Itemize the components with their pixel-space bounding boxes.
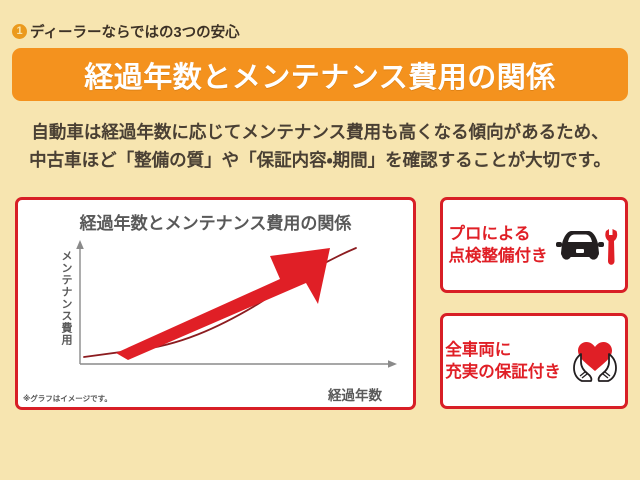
warranty-line-1: 全車両に (445, 339, 561, 361)
heart-in-hands-icon (567, 338, 623, 384)
warranty-line-2: 充実の保証付き (445, 361, 561, 383)
warranty-icons (567, 338, 623, 384)
feature-card-inspection[interactable]: プロによる 点検整備付き (440, 197, 628, 293)
chart-footnote: ※グラフはイメージです。 (23, 393, 112, 404)
trend-arrow-icon (116, 248, 330, 360)
lead-line-1: 自動車は経過年数に応じてメンテナンス費用も高くなる傾向があるため、 (0, 118, 640, 146)
chart-title: 経過年数とメンテナンス費用の関係 (18, 209, 413, 234)
wrench-icon (605, 229, 617, 265)
inspection-line-1: プロによる (449, 223, 548, 245)
car-and-wrench-icon (554, 223, 620, 267)
inspection-icons (554, 223, 620, 267)
banner-title: 経過年数とメンテナンス費用の関係 (84, 54, 555, 96)
car-icon (556, 231, 604, 260)
heart-icon (578, 342, 612, 371)
feature-card-warranty[interactable]: 全車両に 充実の保証付き (440, 313, 628, 409)
inspection-card-text: プロによる 点検整備付き (449, 223, 548, 267)
eyebrow-row: 1 ディーラーならではの3つの安心 (12, 20, 240, 42)
lead-paragraph: 自動車は経過年数に応じてメンテナンス費用も高くなる傾向があるため、 中古車ほど「… (0, 118, 640, 174)
chart-panel: 経過年数とメンテナンス費用の関係 メンテナンス費用 経過年数 ※グラフはイメージ… (15, 197, 416, 410)
section-banner: 経過年数とメンテナンス費用の関係 (12, 48, 628, 101)
y-axis (76, 240, 84, 364)
eyebrow-label: ディーラーならではの3つの安心 (30, 21, 240, 42)
chart-x-axis-label: 経過年数 (328, 384, 382, 404)
lead-line-2: 中古車ほど「整備の質」や「保証内容・期間」を確認することが大切です。 (0, 146, 640, 174)
infographic-page: 1 ディーラーならではの3つの安心 経過年数とメンテナンス費用の関係 自動車は経… (0, 0, 640, 480)
step-number-badge: 1 (12, 24, 27, 39)
chart-plot (18, 236, 413, 376)
warranty-card-text: 全車両に 充実の保証付き (445, 339, 561, 383)
inspection-line-2: 点検整備付き (449, 245, 548, 267)
x-axis (80, 360, 397, 368)
